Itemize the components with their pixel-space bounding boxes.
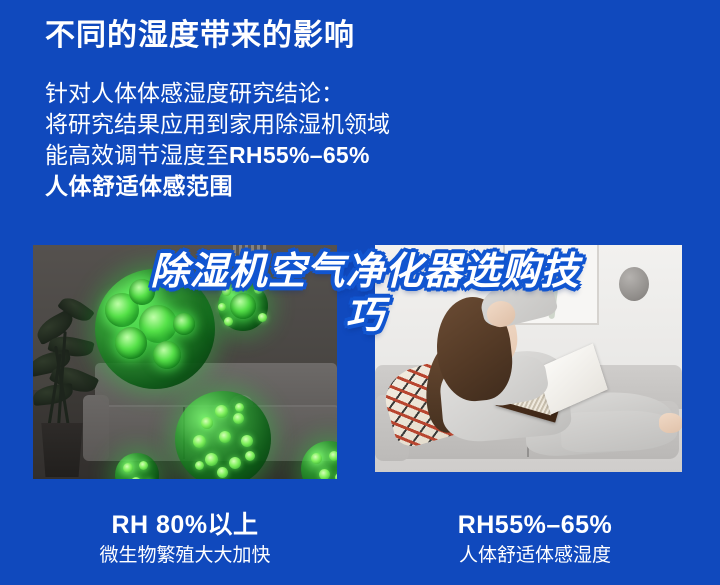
caption-right-title: RH55%–65% bbox=[385, 510, 685, 540]
virus-particle-icon bbox=[175, 391, 271, 479]
caption-left: RH 80%以上 微生物繁殖大大加快 bbox=[35, 510, 335, 569]
left-photo-plant-pot bbox=[39, 423, 85, 477]
body-copy-line-3-prefix: 能高效调节湿度至 bbox=[45, 142, 229, 168]
page-title: 不同的湿度带来的影响 bbox=[45, 16, 355, 56]
caption-left-subtitle: 微生物繁殖大大加快 bbox=[35, 543, 335, 569]
caption-right: RH55%–65% 人体舒适体感湿度 bbox=[385, 510, 685, 569]
caption-left-title: RH 80%以上 bbox=[35, 510, 335, 540]
right-photo-wall-frame-detail bbox=[515, 251, 539, 265]
right-photo-wall-speaker bbox=[619, 267, 649, 301]
body-copy-line-2: 将研究结果应用到家用除湿机领域 bbox=[45, 109, 390, 140]
left-photo-sofa-arm bbox=[83, 395, 109, 461]
body-copy-line-4: 人体舒适体感范围 bbox=[45, 171, 390, 202]
photo-right-comfort-room bbox=[375, 245, 682, 472]
body-copy-block: 针对人体体感湿度研究结论： 将研究结果应用到家用除湿机领域 能高效调节湿度至RH… bbox=[45, 78, 390, 202]
poster-root: 不同的湿度带来的影响 针对人体体感湿度研究结论： 将研究结果应用到家用除湿机领域… bbox=[0, 0, 720, 585]
body-copy-line-1: 针对人体体感湿度研究结论： bbox=[45, 78, 390, 109]
body-copy-line-3: 能高效调节湿度至RH55%–65% bbox=[45, 140, 390, 171]
photo-left-humid-room bbox=[33, 245, 337, 479]
body-copy-line-3-highlight: RH55%–65% bbox=[229, 142, 370, 168]
left-photo-ceiling-lamp bbox=[233, 245, 267, 256]
virus-particle-icon bbox=[218, 281, 268, 331]
woman-foot bbox=[659, 413, 682, 433]
caption-right-subtitle: 人体舒适体感湿度 bbox=[385, 543, 685, 569]
bacteria-cluster-icon bbox=[95, 269, 215, 389]
